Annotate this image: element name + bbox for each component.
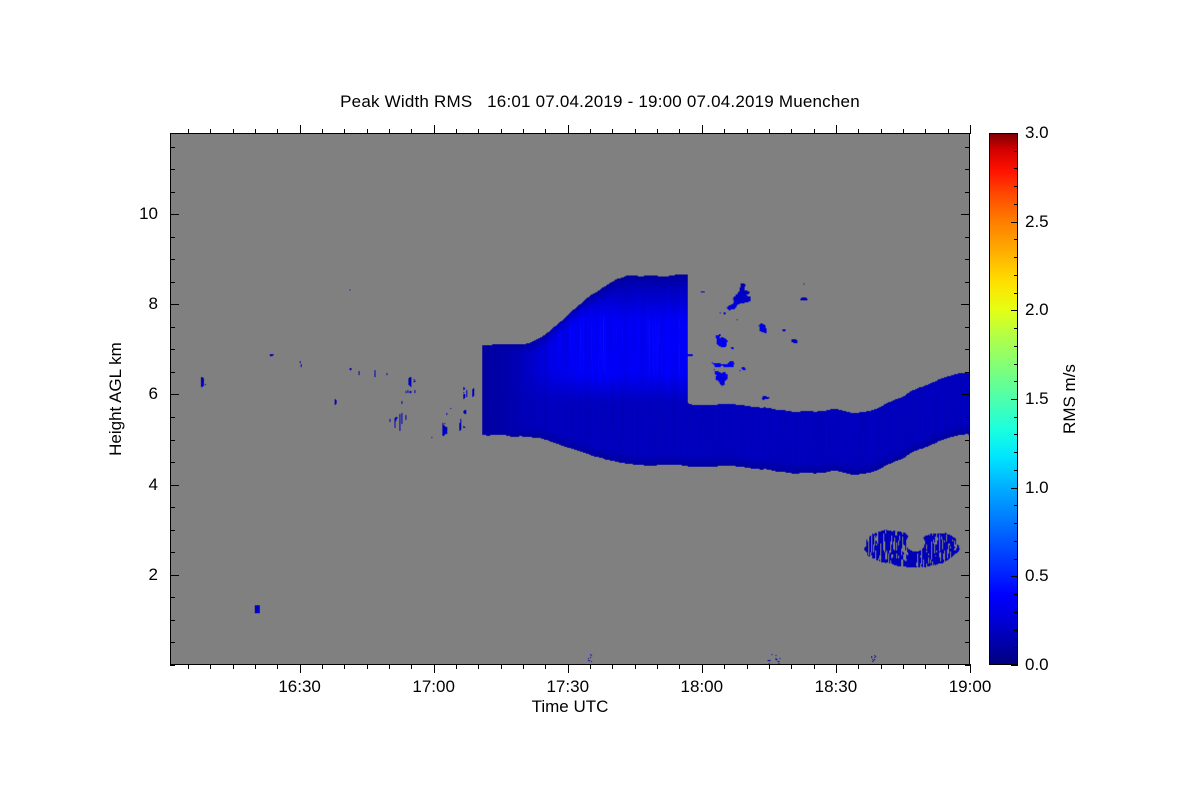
x-major-tick [568,664,569,673]
x-major-tick [970,664,971,673]
y-minor-tick [170,237,175,238]
y-major-tick-right [961,485,970,486]
y-minor-tick-right [965,349,970,350]
y-minor-tick [170,327,175,328]
x-minor-tick [881,664,882,669]
x-major-tick-top [300,125,301,134]
y-minor-tick-right [965,440,970,441]
y-minor-tick-right [965,507,970,508]
colorbar-minor-tick [1014,470,1018,471]
x-minor-tick [612,664,613,669]
y-major-tick-right [961,575,970,576]
colorbar-minor-tick [1014,612,1018,613]
x-minor-tick-top [881,129,882,134]
colorbar-minor-tick [1014,239,1018,240]
colorbar-major-tick [1011,133,1018,134]
colorbar-minor-tick [1014,364,1018,365]
x-minor-tick-top [948,129,949,134]
x-minor-tick [635,664,636,669]
x-minor-tick [322,664,323,669]
x-minor-tick [277,664,278,669]
y-minor-tick-right [965,169,970,170]
x-minor-tick-top [501,129,502,134]
y-minor-tick [170,620,175,621]
x-minor-tick [769,664,770,669]
colorbar-tick-label: 2.0 [1025,300,1049,320]
x-minor-tick-top [322,129,323,134]
y-minor-tick [170,349,175,350]
plot-area [170,133,970,665]
x-minor-tick [188,664,189,669]
x-minor-tick [814,664,815,669]
y-minor-tick [170,417,175,418]
x-minor-tick-top [724,129,725,134]
y-minor-tick [170,192,175,193]
colorbar-major-tick [1011,576,1018,577]
x-major-tick-top [434,125,435,134]
colorbar-minor-tick [1014,328,1018,329]
colorbar-minor-tick [1014,293,1018,294]
colorbar-minor-tick [1014,381,1018,382]
x-minor-tick-top [277,129,278,134]
y-minor-tick [170,552,175,553]
x-minor-tick-top [344,129,345,134]
x-minor-tick-top [210,129,211,134]
colorbar-minor-tick [1014,257,1018,258]
y-tick-label: 10 [112,204,158,224]
colorbar-minor-tick [1014,186,1018,187]
colorbar-tick-label: 0.5 [1025,566,1049,586]
colorbar-minor-tick [1014,523,1018,524]
y-minor-tick [170,597,175,598]
colorbar-label: RMS m/s [1060,319,1080,479]
x-major-tick [836,664,837,673]
x-minor-tick [344,664,345,669]
x-major-tick [702,664,703,673]
y-minor-tick [170,282,175,283]
y-minor-tick [170,642,175,643]
x-minor-tick [255,664,256,669]
x-minor-tick-top [679,129,680,134]
x-minor-tick-top [769,129,770,134]
x-major-tick-top [568,125,569,134]
y-minor-tick-right [965,597,970,598]
colorbar-major-tick [1011,488,1018,489]
page-title: Peak Width RMS 16:01 07.04.2019 - 19:00 … [0,92,1200,112]
x-minor-tick-top [814,129,815,134]
y-minor-tick-right [965,372,970,373]
x-minor-tick-top [635,129,636,134]
x-minor-tick [925,664,926,669]
y-major-tick-right [961,304,970,305]
x-minor-tick [456,664,457,669]
y-minor-tick [170,169,175,170]
y-major-tick [170,394,179,395]
colorbar-minor-tick [1014,275,1018,276]
y-minor-tick [170,462,175,463]
y-minor-tick-right [965,665,970,666]
y-tick-label: 2 [112,565,158,585]
y-minor-tick-right [965,620,970,621]
x-minor-tick [858,664,859,669]
x-major-tick [434,664,435,673]
x-minor-tick [545,664,546,669]
x-minor-tick [903,664,904,669]
x-major-tick-top [970,125,971,134]
colorbar-major-tick [1011,399,1018,400]
colorbar-major-tick [1011,310,1018,311]
y-major-tick-right [961,394,970,395]
y-minor-tick [170,530,175,531]
y-minor-tick-right [965,642,970,643]
y-minor-tick-right [965,462,970,463]
x-minor-tick-top [747,129,748,134]
y-minor-tick-right [965,147,970,148]
colorbar-minor-tick [1014,417,1018,418]
y-minor-tick-right [965,259,970,260]
y-axis-label: Height AGL km [106,279,126,519]
x-minor-tick [948,664,949,669]
x-minor-tick-top [255,129,256,134]
colorbar-minor-tick [1014,452,1018,453]
x-minor-tick-top [456,129,457,134]
x-minor-tick [724,664,725,669]
x-minor-tick [233,664,234,669]
x-minor-tick-top [612,129,613,134]
x-minor-tick-top [233,129,234,134]
x-minor-tick [791,664,792,669]
colorbar-tick-label: 3.0 [1025,123,1049,143]
colorbar-tick-label: 0.0 [1025,655,1049,675]
colorbar-minor-tick [1014,541,1018,542]
x-tick-label: 16:30 [278,677,321,697]
x-minor-tick [389,664,390,669]
colorbar-tick-label: 1.5 [1025,389,1049,409]
x-tick-label: 18:00 [681,677,724,697]
x-minor-tick-top [545,129,546,134]
x-axis-label: Time UTC [170,697,970,717]
x-minor-tick-top [523,129,524,134]
colorbar-minor-tick [1014,151,1018,152]
y-minor-tick-right [965,237,970,238]
colorbar-major-tick [1011,665,1018,666]
y-minor-tick [170,665,175,666]
y-minor-tick-right [965,327,970,328]
colorbar-minor-tick [1014,559,1018,560]
y-major-tick [170,575,179,576]
x-tick-label: 19:00 [949,677,992,697]
colorbar-minor-tick [1014,434,1018,435]
heatmap-data-canvas [171,134,969,664]
y-minor-tick [170,259,175,260]
colorbar-minor-tick [1014,630,1018,631]
x-minor-tick [679,664,680,669]
x-tick-label: 17:30 [546,677,589,697]
x-minor-tick-top [478,129,479,134]
y-minor-tick [170,440,175,441]
x-minor-tick [478,664,479,669]
x-minor-tick [367,664,368,669]
x-minor-tick [501,664,502,669]
y-minor-tick [170,507,175,508]
x-major-tick [300,664,301,673]
y-minor-tick-right [965,417,970,418]
y-minor-tick [170,147,175,148]
colorbar-major-tick [1011,222,1018,223]
y-major-tick [170,214,179,215]
x-major-tick-top [836,125,837,134]
x-minor-tick-top [925,129,926,134]
colorbar-minor-tick [1014,647,1018,648]
y-minor-tick [170,372,175,373]
colorbar-minor-tick [1014,505,1018,506]
figure-canvas: Peak Width RMS 16:01 07.04.2019 - 19:00 … [0,0,1200,800]
x-minor-tick-top [903,129,904,134]
x-minor-tick-top [858,129,859,134]
y-minor-tick-right [965,192,970,193]
x-minor-tick [523,664,524,669]
y-minor-tick-right [965,282,970,283]
colorbar-minor-tick [1014,204,1018,205]
x-minor-tick-top [791,129,792,134]
x-minor-tick-top [367,129,368,134]
x-minor-tick [657,664,658,669]
y-major-tick-right [961,214,970,215]
y-minor-tick-right [965,552,970,553]
colorbar-tick-label: 2.5 [1025,212,1049,232]
x-minor-tick-top [657,129,658,134]
y-major-tick [170,485,179,486]
x-tick-label: 17:00 [412,677,455,697]
x-tick-label: 18:30 [815,677,858,697]
x-minor-tick-top [389,129,390,134]
colorbar-minor-tick [1014,168,1018,169]
y-minor-tick-right [965,530,970,531]
colorbar-minor-tick [1014,594,1018,595]
x-minor-tick [210,664,211,669]
x-minor-tick [590,664,591,669]
colorbar-minor-tick [1014,346,1018,347]
y-major-tick [170,304,179,305]
x-minor-tick-top [411,129,412,134]
x-minor-tick-top [188,129,189,134]
x-minor-tick [747,664,748,669]
x-minor-tick-top [590,129,591,134]
x-minor-tick [411,664,412,669]
colorbar-tick-label: 1.0 [1025,478,1049,498]
x-major-tick-top [702,125,703,134]
